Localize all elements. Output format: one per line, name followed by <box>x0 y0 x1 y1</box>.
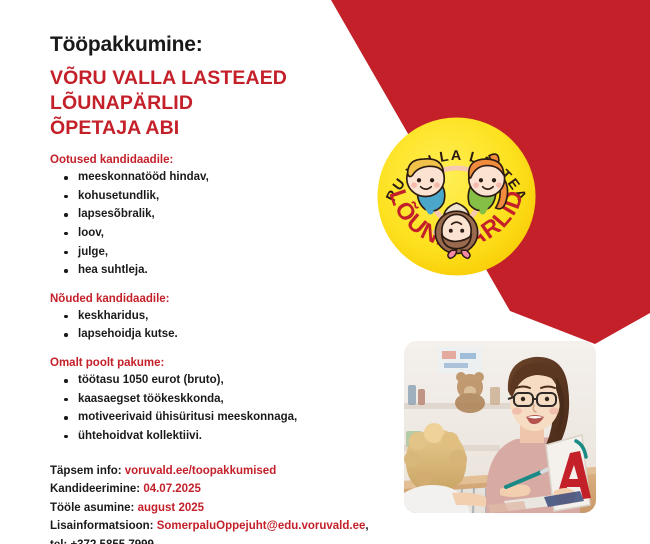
list-item: hea suhtleja. <box>64 261 400 280</box>
contact-start-label: Tööle asumine: <box>50 502 134 514</box>
requirement-list: meeskonnatööd hindav, kohusetundlik, lap… <box>50 168 400 280</box>
email-link[interactable]: SomerpaluOppejuht@edu.voruvald.ee <box>157 520 366 532</box>
contact-block: Täpsem info: voruvald.ee/toopakkumised K… <box>50 462 400 544</box>
classroom-photo <box>404 341 596 513</box>
kicker-label: Tööpakkumine: <box>50 33 400 57</box>
contact-start-row: Tööle asumine: august 2025 <box>50 499 400 518</box>
list-item: loov, <box>64 224 400 243</box>
section-expectations: Ootused kandidaadile: meeskonnatööd hind… <box>50 154 400 280</box>
requirement-list: töötasu 1050 eurot (bruto), kaasaegset t… <box>50 371 400 446</box>
list-item: töötasu 1050 eurot (bruto), <box>64 371 400 390</box>
contact-deadline-label: Kandideerimine: <box>50 483 140 495</box>
kindergarten-logo: VÕRU VALLA LASTEAED LÕUNAPÄRLID <box>375 115 538 278</box>
list-item: lapsehoidja kutse. <box>64 325 400 344</box>
list-item: kohusetundlik, <box>64 187 400 206</box>
list-item: kaasaegset töökeskkonda, <box>64 390 400 409</box>
contact-more-row: Lisainformatsioon: SomerpaluOppejuht@edu… <box>50 517 400 536</box>
section-requirements: Nõuded kandidaadile: keskharidus, lapseh… <box>50 293 400 344</box>
contact-info-row: Täpsem info: voruvald.ee/toopakkumised <box>50 462 400 481</box>
list-item: lapsesõbralik, <box>64 205 400 224</box>
list-item: keskharidus, <box>64 307 400 326</box>
requirement-list: keskharidus, lapsehoidja kutse. <box>50 307 400 344</box>
contact-deadline-row: Kandideerimine: 04.07.2025 <box>50 480 400 499</box>
page-title: VÕRU VALLA LASTEAED LÕUNAPÄRLID ÕPETAJA … <box>50 66 400 141</box>
list-item: ühtehoidvat kollektiivi. <box>64 427 400 446</box>
list-item: motiveerivaid ühisüritusi meeskonnaga, <box>64 408 400 427</box>
website-link[interactable]: voruvald.ee/toopakkumised <box>125 465 276 477</box>
start-value: august 2025 <box>138 502 204 514</box>
comma: , <box>365 520 368 532</box>
title-line-3: ÕPETAJA ABI <box>50 116 400 141</box>
contact-more-label: Lisainformatsioon: <box>50 520 154 532</box>
contact-info-label: Täpsem info: <box>50 465 122 477</box>
section-heading: Omalt poolt pakume: <box>50 357 400 369</box>
title-line-1: VÕRU VALLA LASTEAED <box>50 66 400 91</box>
contact-phone-row: tel: +372 5855 7999 <box>50 536 400 544</box>
list-item: meeskonnatööd hindav, <box>64 168 400 187</box>
title-line-2: LÕUNAPÄRLID <box>50 91 400 116</box>
list-item: julge, <box>64 243 400 262</box>
section-offer: Omalt poolt pakume: töötasu 1050 eurot (… <box>50 357 400 446</box>
job-advert-poster: Tööpakkumine: VÕRU VALLA LASTEAED LÕUNAP… <box>0 0 650 544</box>
photo-illustration <box>404 341 596 513</box>
deadline-value: 04.07.2025 <box>143 483 201 495</box>
section-heading: Nõuded kandidaadile: <box>50 293 400 305</box>
section-heading: Ootused kandidaadile: <box>50 154 400 166</box>
text-column: Tööpakkumine: VÕRU VALLA LASTEAED LÕUNAP… <box>50 33 400 544</box>
